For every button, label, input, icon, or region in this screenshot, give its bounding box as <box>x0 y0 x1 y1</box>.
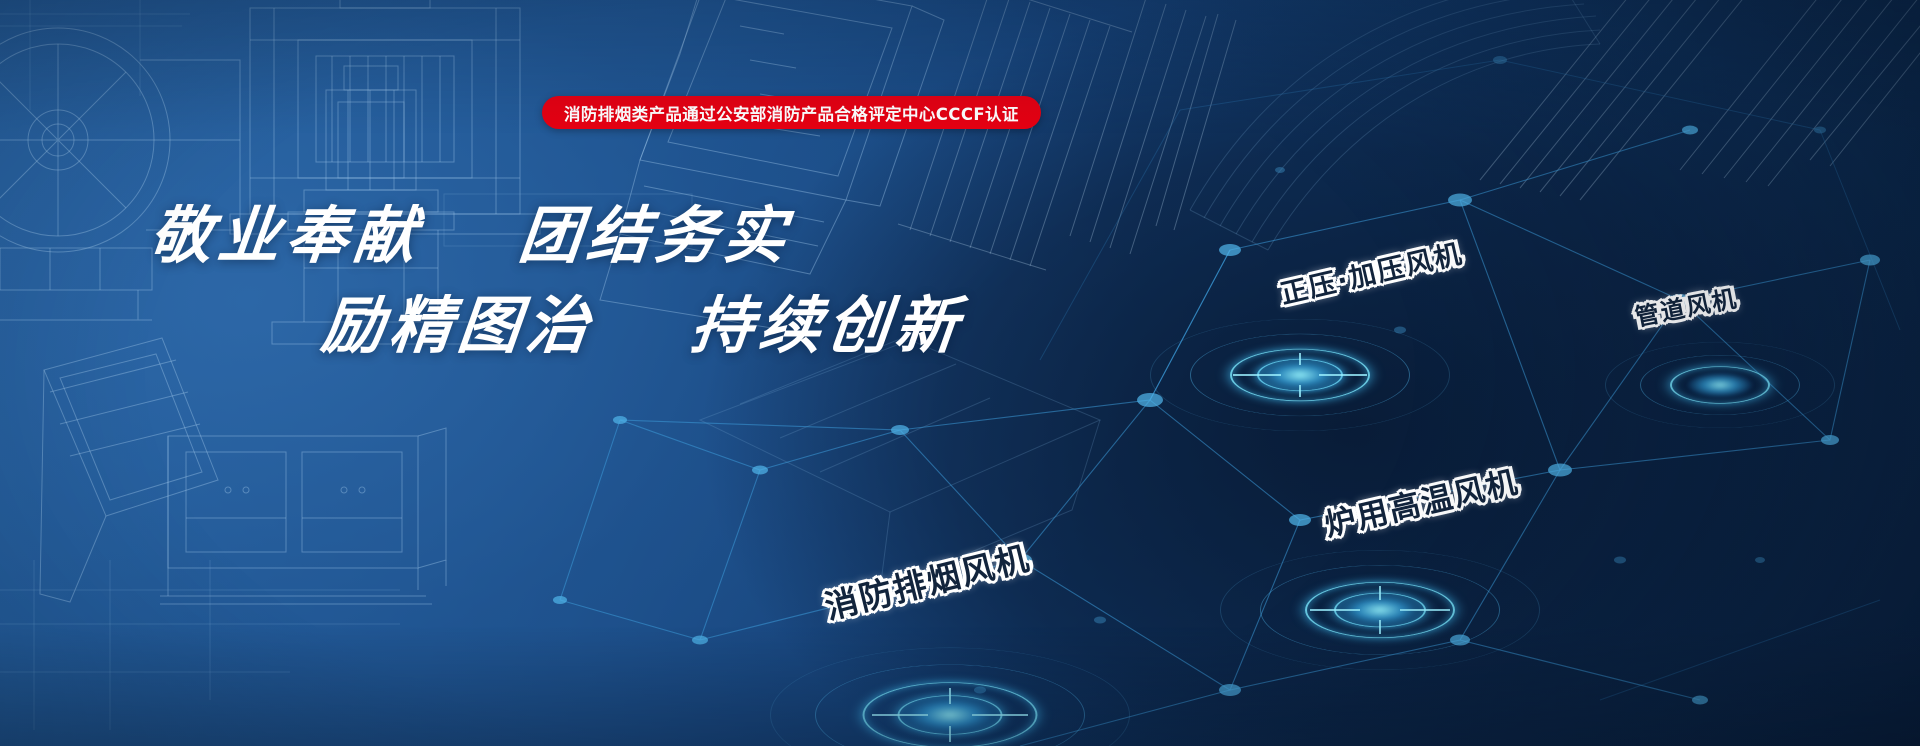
slogan-line-2: 励精图治 持续创新 <box>319 295 914 357</box>
blueprint-hatch-bundle <box>870 0 1250 270</box>
slogan-block: 敬业奉献 团结务实 励精图治 持续创新 <box>150 205 910 357</box>
product-label-duct-fan: 管道风机 <box>1632 278 1741 332</box>
blueprint-bottom-grid <box>0 560 410 746</box>
slogan-line-1: 敬业奉献 团结务实 <box>147 205 914 267</box>
blueprint-top-right-hatch <box>1480 0 1920 200</box>
slogan-phrase-1: 敬业奉献 <box>146 199 426 272</box>
glow-hub-pressurization <box>1140 305 1460 445</box>
blueprint-ahu-unit <box>160 418 450 618</box>
blueprint-center-frame <box>440 190 700 260</box>
blueprint-angled-duct <box>540 0 960 330</box>
hero-banner: 正压·加压风机 管道风机 炉用高温风机 消防排烟风机 敬业奉献 团结务实 励精图… <box>0 0 1920 746</box>
product-label-fire-smoke-fan: 消防排烟风机 <box>819 531 1034 628</box>
slogan-phrase-4: 持续创新 <box>687 289 967 362</box>
certification-badge: 消防排烟类产品通过公安部消防产品合格评定中心CCCF认证 <box>542 96 1041 129</box>
blueprint-cabinet-fan <box>190 0 590 242</box>
glow-hub-duct <box>1600 330 1840 440</box>
glow-hub-furnace <box>1220 540 1540 680</box>
blueprint-volute <box>10 330 270 620</box>
slogan-phrase-2: 团结务实 <box>515 199 795 272</box>
blueprint-corner-fragments <box>0 0 200 120</box>
blueprint-motor-stand <box>248 60 498 360</box>
product-label-furnace-hot-fan: 炉用高温风机 <box>1319 456 1522 544</box>
blueprint-centrifugal-blower <box>0 0 260 350</box>
blueprint-axial-blades <box>1180 0 1600 260</box>
slogan-phrase-3: 励精图治 <box>318 289 598 362</box>
product-label-pressurization-fan: 正压·加压风机 <box>1276 232 1466 312</box>
blueprint-wire-panel <box>700 300 1120 600</box>
certification-badge-text: 消防排烟类产品通过公安部消防产品合格评定中心CCCF认证 <box>564 101 1019 125</box>
glow-hub-fire-smoke <box>780 640 1120 746</box>
